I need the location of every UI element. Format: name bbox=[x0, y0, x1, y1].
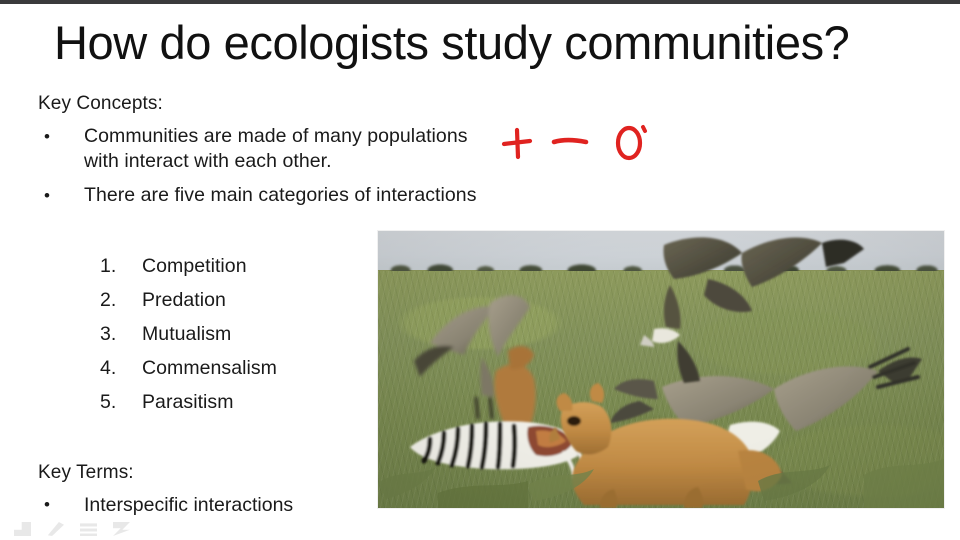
list-item-label: Mutualism bbox=[142, 323, 231, 346]
list-number: 4. bbox=[100, 357, 142, 380]
list-item: • There are five main categories of inte… bbox=[38, 183, 518, 208]
list-item-label: Predation bbox=[142, 289, 226, 312]
bullet-marker-icon: • bbox=[38, 124, 84, 149]
key-terms-heading: Key Terms: bbox=[38, 462, 134, 484]
bullet-marker-icon: • bbox=[38, 183, 84, 208]
menu-icon[interactable] bbox=[80, 522, 97, 536]
next-icon[interactable] bbox=[113, 522, 130, 536]
list-item-label: Competition bbox=[142, 255, 247, 278]
ink-annotation bbox=[492, 112, 672, 172]
bullet-text: There are five main categories of intera… bbox=[84, 183, 477, 208]
bullet-marker-icon: • bbox=[38, 492, 84, 518]
key-concepts-bullet-list: • Communities are made of many populatio… bbox=[38, 124, 518, 217]
ink-strokes-icon bbox=[492, 112, 672, 172]
list-number: 3. bbox=[100, 323, 142, 346]
slide-canvas: How do ecologists study communities? Key… bbox=[0, 0, 960, 540]
list-item-label: Commensalism bbox=[142, 357, 277, 380]
list-item: • Communities are made of many populatio… bbox=[38, 124, 518, 174]
dark-vulture-icon bbox=[640, 237, 864, 383]
window-top-bar bbox=[0, 0, 960, 4]
zebra-carcass-icon bbox=[410, 421, 584, 477]
previous-icon[interactable] bbox=[14, 522, 31, 536]
slide-title: How do ecologists study communities? bbox=[54, 18, 924, 69]
key-concepts-heading: Key Concepts: bbox=[38, 93, 163, 115]
presentation-toolbar[interactable] bbox=[14, 522, 130, 536]
list-number: 1. bbox=[100, 255, 142, 278]
list-number: 5. bbox=[100, 391, 142, 414]
bullet-text: Communities are made of many populations… bbox=[84, 124, 504, 174]
list-item-label: Parasitism bbox=[142, 391, 234, 414]
key-term-text: Interspecific interactions bbox=[84, 492, 293, 518]
list-number: 2. bbox=[100, 289, 142, 312]
pen-icon[interactable] bbox=[47, 522, 64, 536]
savanna-photo bbox=[378, 231, 944, 508]
photo-animals bbox=[378, 231, 944, 508]
